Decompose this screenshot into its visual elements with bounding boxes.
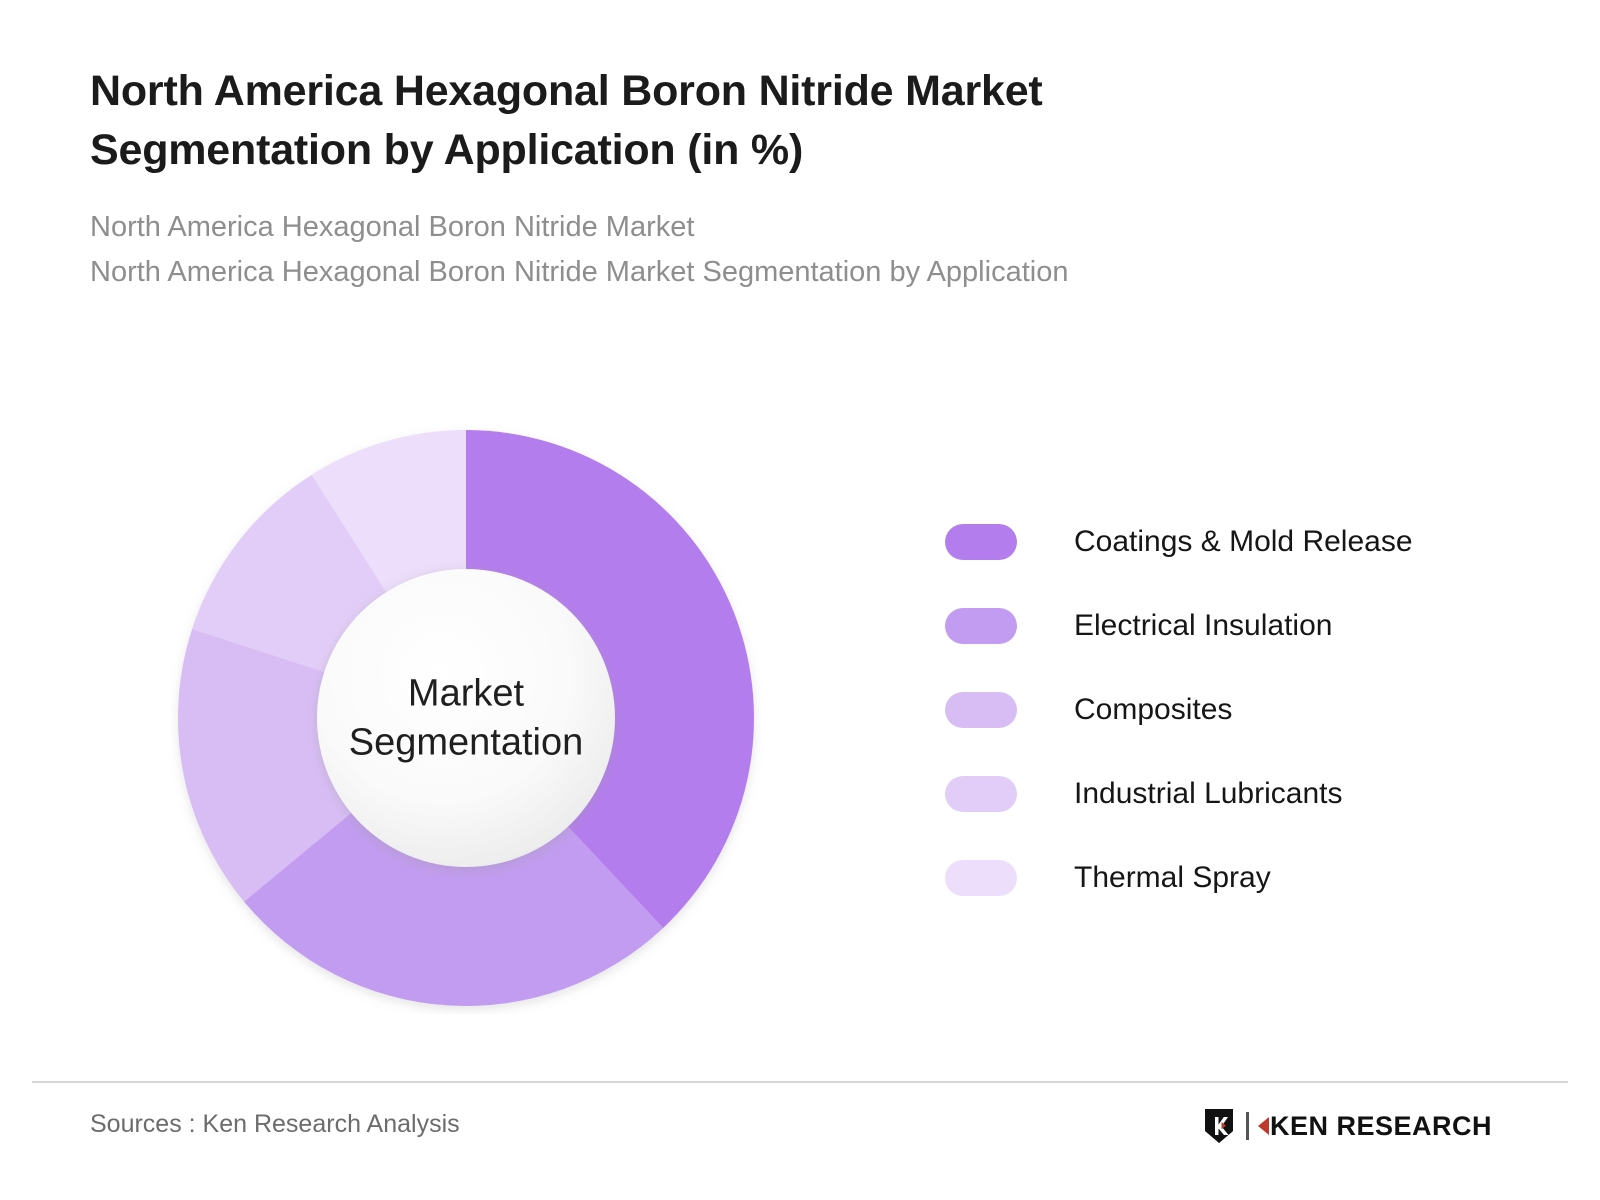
logo-wordmark: KEN RESEARCH [1258, 1111, 1492, 1142]
donut-svg [170, 422, 762, 1014]
donut-hole [317, 569, 615, 867]
subtitle-line-2: North America Hexagonal Boron Nitride Ma… [90, 250, 1390, 295]
logo-wordmark-text: KEN RESEARCH [1270, 1111, 1492, 1142]
legend-item[interactable]: Composites [945, 668, 1505, 752]
ken-research-logo: KEN RESEARCH [1202, 1105, 1492, 1147]
legend-item[interactable]: Coatings & Mold Release [945, 500, 1505, 584]
chart-body: Market Segmentation Coatings & Mold Rele… [0, 400, 1600, 1040]
shield-k-icon [1202, 1107, 1236, 1145]
legend-swatch-icon [945, 692, 1017, 728]
legend-swatch-icon [945, 524, 1017, 560]
legend-swatch-icon [945, 776, 1017, 812]
chart-footer: Sources : Ken Research Analysis KEN RESE… [0, 1083, 1600, 1200]
chart-legend: Coatings & Mold ReleaseElectrical Insula… [945, 500, 1505, 920]
chart-page: North America Hexagonal Boron Nitride Ma… [0, 0, 1600, 1200]
logo-divider [1246, 1112, 1249, 1140]
donut-chart: Market Segmentation [170, 422, 762, 1014]
legend-swatch-icon [945, 860, 1017, 896]
chart-header: North America Hexagonal Boron Nitride Ma… [90, 62, 1390, 295]
legend-item[interactable]: Thermal Spray [945, 836, 1505, 920]
legend-label: Composites [1074, 693, 1232, 727]
subtitle-line-1: North America Hexagonal Boron Nitride Ma… [90, 205, 1390, 250]
legend-label: Coatings & Mold Release [1074, 525, 1413, 559]
legend-label: Industrial Lubricants [1074, 777, 1342, 811]
legend-swatch-icon [945, 608, 1017, 644]
page-title: North America Hexagonal Boron Nitride Ma… [90, 62, 1270, 181]
subtitle-block: North America Hexagonal Boron Nitride Ma… [90, 205, 1390, 295]
legend-item[interactable]: Industrial Lubricants [945, 752, 1505, 836]
legend-item[interactable]: Electrical Insulation [945, 584, 1505, 668]
sources-label: Sources : Ken Research Analysis [90, 1110, 460, 1139]
legend-label: Thermal Spray [1074, 861, 1271, 895]
logo-triangle-icon [1258, 1117, 1269, 1135]
legend-label: Electrical Insulation [1074, 609, 1332, 643]
